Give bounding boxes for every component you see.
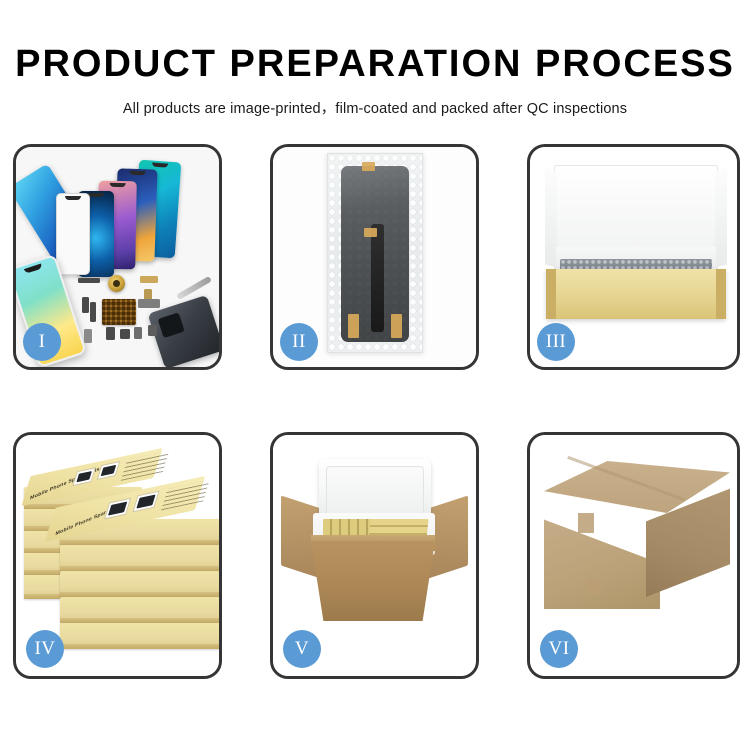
screwdriver-tool bbox=[176, 276, 212, 300]
small-part-h bbox=[120, 329, 130, 339]
screen-protector-glass bbox=[56, 193, 90, 275]
bubble-wrap-bag bbox=[327, 153, 423, 353]
window-screen bbox=[101, 465, 117, 476]
window-screen bbox=[76, 471, 92, 482]
step-badge-1: I bbox=[23, 323, 61, 361]
retail-box-front-3 bbox=[60, 571, 219, 597]
step-badge-2: II bbox=[280, 323, 318, 361]
retail-box-window-rear-2 bbox=[97, 461, 121, 480]
step-badge-6: VI bbox=[540, 630, 578, 668]
box-stack: Mobile Phone Spare Parts bbox=[24, 457, 219, 641]
chip-grid-part bbox=[102, 299, 136, 325]
retail-box-front-5 bbox=[60, 623, 219, 649]
notch-icon bbox=[88, 193, 104, 197]
tape-piece-top bbox=[362, 162, 375, 171]
carton-tape-lower bbox=[586, 579, 602, 595]
small-part-b bbox=[140, 276, 158, 283]
flex-cable bbox=[371, 224, 384, 332]
retail-box-spec-text-front bbox=[161, 480, 209, 510]
page-title: PRODUCT PREPARATION PROCESS bbox=[0, 45, 750, 83]
step-badge-4: IV bbox=[26, 630, 64, 668]
retail-box-window-front-1 bbox=[104, 498, 131, 520]
process-step-panel-5: V bbox=[270, 432, 479, 679]
retail-box-window-front-2 bbox=[132, 491, 159, 513]
header: PRODUCT PREPARATION PROCESS All products… bbox=[0, 0, 750, 118]
small-part-e bbox=[90, 302, 96, 322]
small-part-d bbox=[82, 297, 89, 313]
process-step-panel-6: VI bbox=[527, 432, 740, 679]
window-screen bbox=[136, 494, 155, 508]
product-preparation-process-infographic: PRODUCT PREPARATION PROCESS All products… bbox=[0, 0, 750, 750]
process-step-panel-1: I bbox=[13, 144, 222, 370]
small-part-j bbox=[84, 329, 92, 343]
tape-piece-bottom-left bbox=[348, 314, 359, 338]
retail-box-spec-text-rear bbox=[121, 451, 169, 481]
step-badge-5: V bbox=[283, 630, 321, 668]
step-badge-3: III bbox=[537, 323, 575, 361]
retail-box-front-2 bbox=[60, 545, 219, 571]
carton-tape-upper bbox=[578, 513, 594, 533]
notch-icon bbox=[65, 196, 81, 200]
retail-box-front-4 bbox=[60, 597, 219, 623]
process-step-panel-3: III bbox=[527, 144, 740, 370]
retail-box-window-rear-1 bbox=[72, 467, 96, 486]
notch-icon bbox=[129, 171, 145, 176]
notch-icon bbox=[152, 163, 168, 168]
notch-icon bbox=[110, 183, 126, 187]
tape-piece-mid bbox=[364, 228, 377, 237]
small-part-i bbox=[134, 327, 142, 339]
window-screen bbox=[108, 502, 127, 516]
speaker-coil-part bbox=[108, 275, 125, 292]
process-step-panel-2: II bbox=[270, 144, 479, 370]
tape-piece-bottom-right bbox=[391, 314, 402, 338]
process-step-panel-4: Mobile Phone Spare Parts bbox=[13, 432, 222, 679]
sealed-carton bbox=[544, 461, 730, 611]
small-part-f bbox=[138, 299, 160, 308]
process-steps-grid: I II bbox=[13, 144, 740, 679]
yellow-box-base bbox=[546, 269, 726, 319]
carton-front-face bbox=[544, 505, 660, 609]
box-edge bbox=[60, 644, 219, 649]
small-part-k bbox=[148, 325, 157, 336]
small-part-g bbox=[106, 327, 115, 340]
small-part-a bbox=[78, 278, 100, 283]
page-subtitle: All products are image-printed，film-coat… bbox=[0, 97, 750, 118]
carton-body bbox=[311, 541, 435, 621]
